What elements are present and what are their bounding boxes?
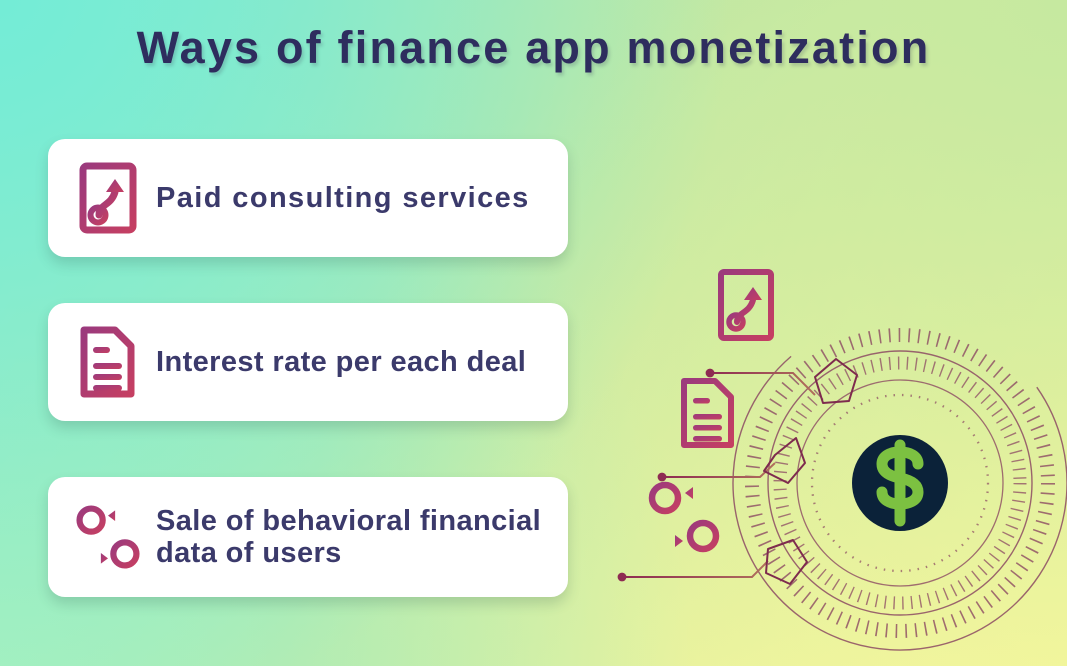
illus-document-lines-icon [684,381,731,445]
card-paid-consulting[interactable]: Paid consulting services [48,139,568,257]
card-interest-rate[interactable]: Interest rate per each deal [48,303,568,421]
monetization-flow-illustration [600,255,1067,655]
card-label: Interest rate per each deal [156,346,526,378]
illus-data-exchange-icon [652,485,716,549]
data-exchange-icon [76,501,140,573]
card-label: Sale of behavioral financial data of use… [156,505,550,570]
page-title: Ways of finance app monetization [0,22,1067,74]
dollar-badge [852,435,948,531]
card-label: Paid consulting services [156,182,530,214]
pentagon-1 [815,359,857,403]
document-lines-icon [76,325,140,399]
illus-document-growth-arrow-icon [721,272,771,338]
document-growth-arrow-icon [76,162,140,234]
card-behavioral-data[interactable]: Sale of behavioral financial data of use… [48,477,568,597]
